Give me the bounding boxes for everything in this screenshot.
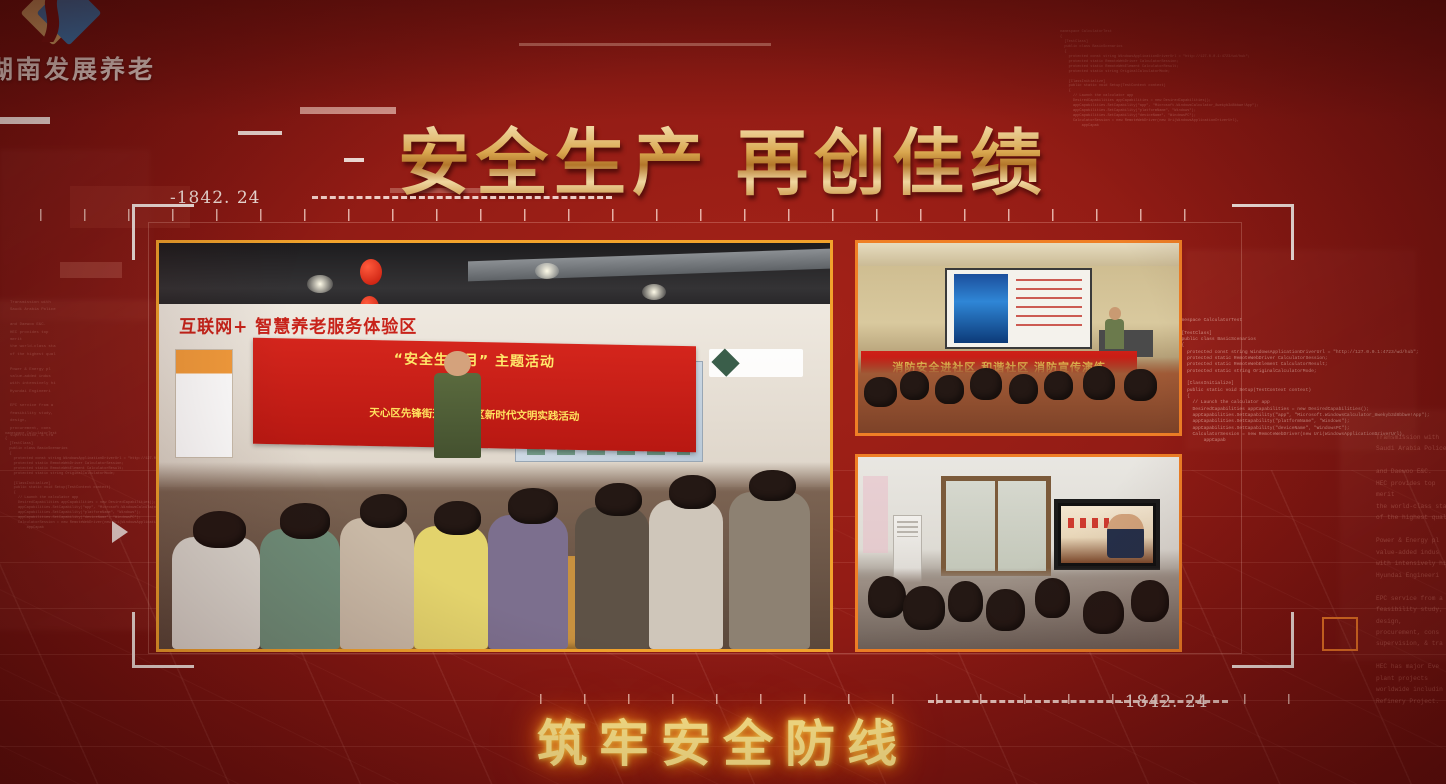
wall-poster	[175, 349, 233, 459]
audience-head	[669, 475, 716, 509]
play-triangle-icon[interactable]	[112, 521, 128, 543]
wall-heading-text: 互联网+ 智慧养老服务体验区	[179, 311, 417, 337]
audience-head	[986, 589, 1025, 631]
audience-head	[1044, 371, 1073, 400]
diamond-logo-icon	[18, 0, 96, 44]
audience-head	[868, 576, 907, 618]
bottom-right-photo	[858, 457, 1179, 649]
banner-line-1: “安全生产月” 主题活动	[293, 347, 656, 374]
audience-head	[1083, 591, 1125, 635]
title-part-2: 再创佳绩	[736, 120, 1048, 205]
top-vignette	[0, 0, 1446, 120]
audience-body	[340, 518, 414, 649]
decor-orange-square	[1322, 617, 1358, 651]
tv-scene	[1061, 506, 1153, 563]
slide-text-lines	[1016, 279, 1082, 327]
org-logo-badge	[709, 349, 803, 377]
coordinate-readout-top: -1842. 24	[170, 188, 260, 208]
decor-block-left	[60, 262, 122, 278]
presenter-person	[1105, 319, 1124, 349]
audience-head	[434, 501, 481, 535]
slide-image	[954, 274, 1009, 342]
audience-head	[1124, 369, 1156, 401]
projection-screen	[945, 268, 1093, 350]
audience-body	[172, 537, 259, 649]
audience-head	[970, 368, 1002, 400]
footer-subtitle: 筑牢安全防线	[0, 704, 1446, 776]
audience-seating	[858, 357, 1179, 433]
audience-body	[649, 500, 723, 649]
wall-tv	[1054, 499, 1160, 570]
audience-head	[193, 511, 247, 548]
audience-body	[414, 526, 488, 649]
main-photo: 互联网+ 智慧养老服务体验区 “安全生产月” 主题活动 天心区先锋街道南城社区新…	[159, 243, 830, 649]
wall-notices	[863, 476, 889, 553]
audience-head	[360, 494, 407, 528]
main-photo-frame[interactable]: 互联网+ 智慧养老服务体验区 “安全生产月” 主题活动 天心区先锋街道南城社区新…	[156, 240, 833, 652]
title-part-1: 安全生产	[398, 120, 710, 205]
top-right-photo-frame[interactable]: 消防安全进社区 和谐社区 消防宣传演练	[855, 240, 1182, 436]
dashed-rail-top	[312, 196, 612, 199]
audience-head	[508, 488, 558, 523]
ceiling-lamp	[642, 284, 666, 300]
window	[941, 476, 1050, 576]
audience-head	[1083, 366, 1115, 399]
audience-head	[595, 483, 642, 517]
audience-body	[575, 507, 649, 649]
audience-head	[903, 586, 945, 630]
tick-ruler-top	[40, 209, 1190, 221]
logo-s-curve	[40, 0, 74, 42]
audience-head	[1131, 580, 1170, 622]
audience-area	[858, 568, 1179, 649]
tv-officer	[1107, 514, 1144, 557]
audience-head	[1009, 374, 1038, 404]
brand-name: 湖南发展养老	[0, 50, 156, 86]
tv-caption	[1068, 518, 1108, 528]
audience-head	[280, 503, 330, 538]
audience-head	[948, 581, 983, 621]
slide-stage: namespace CalculatorTest { [TestClass] p…	[0, 0, 1446, 784]
presenter-person	[434, 373, 481, 458]
auditorium-ceiling	[858, 243, 1179, 266]
decor-line-top	[519, 43, 771, 46]
audience-head	[1035, 578, 1070, 618]
audience-head	[864, 377, 896, 407]
photo-collage: 互联网+ 智慧养老服务体验区 “安全生产月” 主题活动 天心区先锋街道南城社区新…	[156, 240, 1182, 652]
audience-body	[729, 492, 810, 649]
audience-head	[749, 470, 796, 502]
bottom-right-photo-frame[interactable]	[855, 454, 1182, 652]
audience-body	[260, 529, 341, 649]
audience-area	[159, 462, 830, 649]
top-right-photo: 消防安全进社区 和谐社区 消防宣传演练	[858, 243, 1179, 433]
audience-body	[488, 515, 569, 649]
audience-head	[900, 371, 929, 400]
audience-head	[935, 375, 964, 404]
